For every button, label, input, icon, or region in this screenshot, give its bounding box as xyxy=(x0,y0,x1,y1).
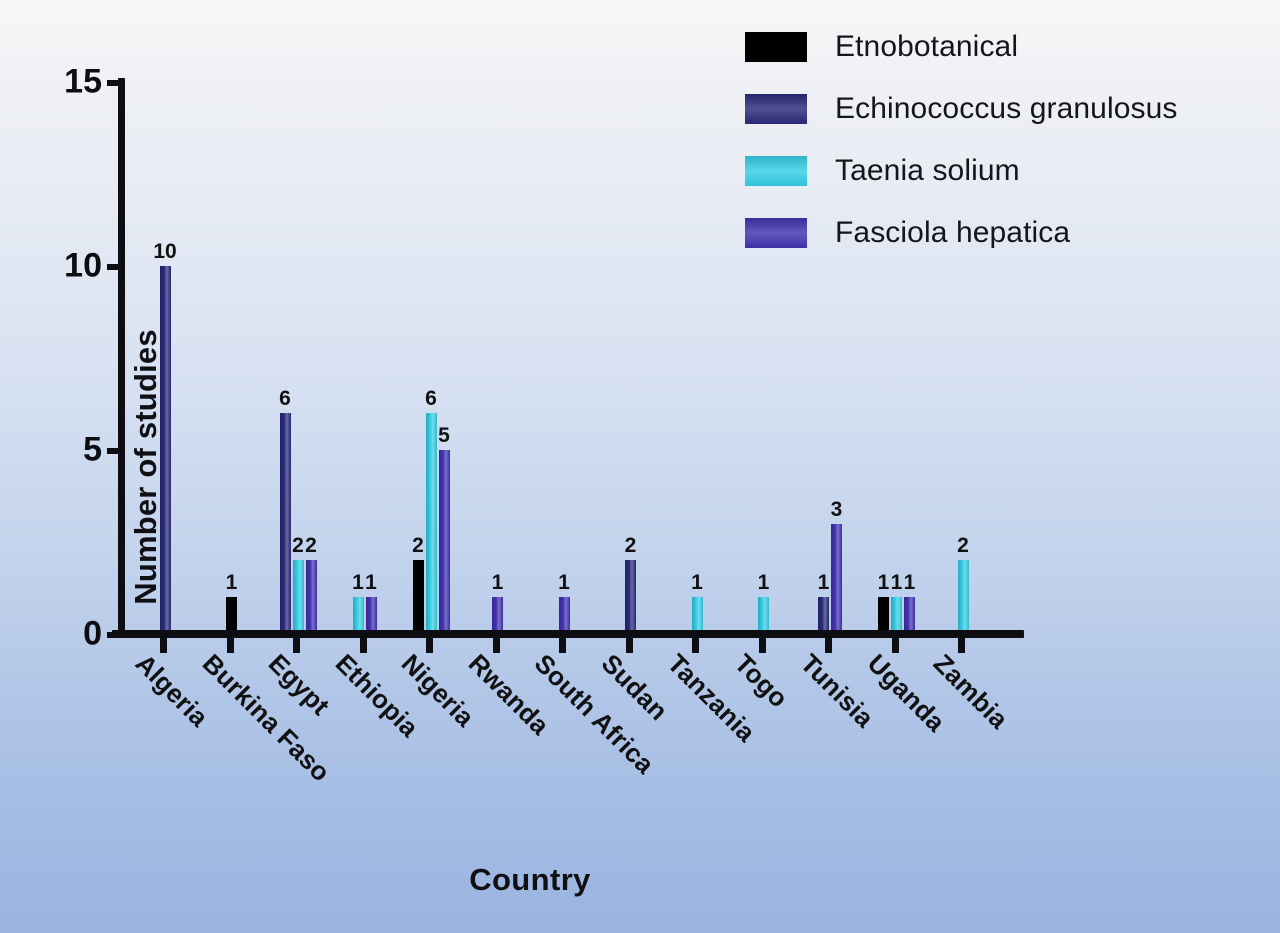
legend-item[interactable]: Taenia solium xyxy=(745,154,1178,188)
bar-tunisia-echinococcus-granulosus: 1 xyxy=(818,597,829,634)
bar-value-label: 1 xyxy=(904,571,916,595)
bar-egypt-fasciola-hepatica: 2 xyxy=(306,560,317,634)
legend-item[interactable]: Fasciola hepatica xyxy=(745,216,1178,250)
bar-tanzania-taenia-solium: 1 xyxy=(692,597,703,634)
bar-value-label: 1 xyxy=(226,571,238,595)
legend-color-swatch xyxy=(745,32,807,62)
bar-value-label: 1 xyxy=(691,571,703,595)
bar-value-label: 1 xyxy=(758,571,770,595)
bar-value-label: 2 xyxy=(305,534,317,558)
y-tick-label: 15 xyxy=(40,63,102,102)
legend-label: Fasciola hepatica xyxy=(835,216,1070,250)
bar-egypt-taenia-solium: 2 xyxy=(293,560,304,634)
bar-value-label: 1 xyxy=(891,571,903,595)
bar-rwanda-fasciola-hepatica: 1 xyxy=(492,597,503,634)
bar-value-label: 1 xyxy=(352,571,364,595)
x-tick-mark xyxy=(559,638,566,653)
bar-nigeria-etnobotanical: 2 xyxy=(413,560,424,634)
x-axis-line xyxy=(112,630,1024,638)
bar-nigeria-taenia-solium: 6 xyxy=(426,413,437,634)
bar-egypt-echinococcus-granulosus: 6 xyxy=(280,413,291,634)
legend-color-swatch xyxy=(745,156,807,186)
bar-value-label: 1 xyxy=(558,571,570,595)
bar-sudan-echinococcus-granulosus: 2 xyxy=(625,560,636,634)
x-tick-mark xyxy=(958,638,965,653)
bar-ethiopia-fasciola-hepatica: 1 xyxy=(366,597,377,634)
bar-value-label: 1 xyxy=(878,571,890,595)
bar-uganda-taenia-solium: 1 xyxy=(891,597,902,634)
chart-legend: EtnobotanicalEchinococcus granulosusTaen… xyxy=(745,30,1178,250)
x-tick-mark xyxy=(227,638,234,653)
bar-ethiopia-taenia-solium: 1 xyxy=(353,597,364,634)
bar-nigeria-fasciola-hepatica: 5 xyxy=(439,450,450,634)
bar-value-label: 3 xyxy=(831,498,843,522)
bar-value-label: 1 xyxy=(492,571,504,595)
x-tick-mark xyxy=(360,638,367,653)
bar-value-label: 5 xyxy=(438,424,450,448)
y-tick-label: 10 xyxy=(40,247,102,286)
x-category-label: Tunisia xyxy=(794,648,880,734)
bar-value-label: 6 xyxy=(425,387,437,411)
bar-value-label: 2 xyxy=(957,534,969,558)
bar-togo-taenia-solium: 1 xyxy=(758,597,769,634)
bar-zambia-taenia-solium: 2 xyxy=(958,560,969,634)
x-tick-mark xyxy=(160,638,167,653)
bar-tunisia-fasciola-hepatica: 3 xyxy=(831,524,842,634)
x-tick-mark xyxy=(293,638,300,653)
bar-south-africa-fasciola-hepatica: 1 xyxy=(559,597,570,634)
legend-item[interactable]: Etnobotanical xyxy=(745,30,1178,64)
bar-uganda-etnobotanical: 1 xyxy=(878,597,889,634)
bar-uganda-fasciola-hepatica: 1 xyxy=(904,597,915,634)
bar-value-label: 10 xyxy=(153,240,176,264)
legend-color-swatch xyxy=(745,218,807,248)
bar-value-label: 1 xyxy=(818,571,830,595)
bar-value-label: 6 xyxy=(279,387,291,411)
bar-burkina-faso-etnobotanical: 1 xyxy=(226,597,237,634)
x-tick-mark xyxy=(892,638,899,653)
y-tick-label: 0 xyxy=(40,615,102,654)
x-tick-mark xyxy=(692,638,699,653)
y-tick-label: 5 xyxy=(40,431,102,470)
x-tick-mark xyxy=(626,638,633,653)
x-tick-mark xyxy=(426,638,433,653)
x-tick-mark xyxy=(759,638,766,653)
x-tick-mark xyxy=(825,638,832,653)
bar-algeria-echinococcus-granulosus: 10 xyxy=(160,266,171,634)
legend-label: Echinococcus granulosus xyxy=(835,92,1178,126)
x-tick-mark xyxy=(493,638,500,653)
x-category-label: Algeria xyxy=(129,648,214,733)
legend-label: Taenia solium xyxy=(835,154,1020,188)
bar-chart-figure: Number of studies 051015 101622112651121… xyxy=(0,0,1280,933)
bar-value-label: 2 xyxy=(292,534,304,558)
legend-color-swatch xyxy=(745,94,807,124)
bar-value-label: 1 xyxy=(365,571,377,595)
legend-label: Etnobotanical xyxy=(835,30,1018,64)
bar-value-label: 2 xyxy=(412,534,424,558)
legend-item[interactable]: Echinococcus granulosus xyxy=(745,92,1178,126)
bar-value-label: 2 xyxy=(625,534,637,558)
x-axis-title: Country xyxy=(0,862,1060,898)
